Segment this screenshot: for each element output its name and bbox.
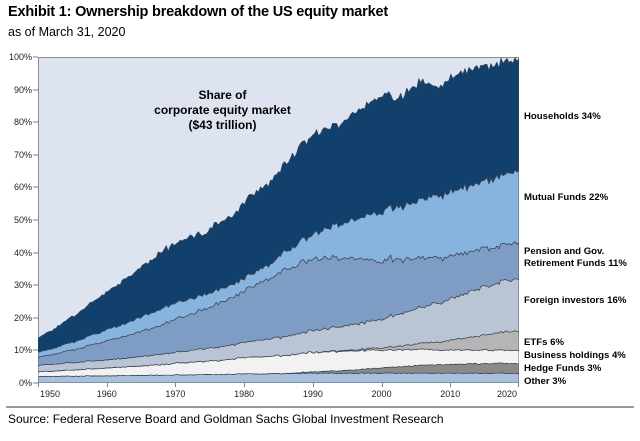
y-tick-label: 80%	[14, 117, 32, 127]
series-label-mutual-funds: Mutual Funds 22%	[524, 192, 608, 204]
x-tick-mark	[38, 383, 39, 387]
x-axis: 19501960197019801990200020102020	[38, 383, 519, 405]
x-tick-label: 1960	[97, 389, 117, 399]
series-label-foreign-investors: Foreign investors 16%	[524, 295, 626, 307]
y-tick-label: 10%	[14, 345, 32, 355]
annotation-line-2: corporate equity market	[115, 103, 330, 118]
x-tick-label: 2000	[372, 389, 392, 399]
x-tick-mark	[107, 383, 108, 387]
y-tick-label: 100%	[9, 52, 32, 62]
footer-divider	[6, 406, 634, 408]
x-tick-mark	[518, 383, 519, 387]
y-tick-label: 40%	[14, 248, 32, 258]
x-tick-label: 2010	[440, 389, 460, 399]
series-label-pension: Pension and Gov. Retirement Funds 11%	[524, 246, 627, 269]
x-tick-mark	[382, 383, 383, 387]
x-tick-mark	[450, 383, 451, 387]
y-tick-label: 20%	[14, 313, 32, 323]
y-tick-label: 90%	[14, 85, 32, 95]
series-label-pension-line-1: Pension and Gov.	[524, 246, 627, 258]
x-tick-mark	[175, 383, 176, 387]
series-label-hedge-funds: Hedge Funds 3%	[524, 363, 601, 375]
x-tick-mark	[313, 383, 314, 387]
y-axis: 100%90%80%70%60%50%40%30%20%10%0%	[0, 57, 38, 383]
y-tick-label: 70%	[14, 150, 32, 160]
series-label-households: Households 34%	[524, 111, 601, 123]
y-tick-label: 0%	[19, 378, 32, 388]
page-title: Exhibit 1: Ownership breakdown of the US…	[8, 4, 388, 20]
series-label-etfs: ETFs 6%	[524, 337, 564, 349]
chart-annotation: Share of corporate equity market ($43 tr…	[115, 88, 330, 133]
x-tick-mark	[244, 383, 245, 387]
y-tick-label: 60%	[14, 182, 32, 192]
series-label-pension-line-2: Retirement Funds 11%	[524, 258, 627, 270]
y-tick-label: 30%	[14, 280, 32, 290]
page-subtitle: as of March 31, 2020	[8, 25, 125, 39]
series-label-business-holdings: Business holdings 4%	[524, 350, 626, 362]
source-note: Source: Federal Reserve Board and Goldma…	[8, 412, 444, 426]
x-tick-label: 2020	[497, 389, 517, 399]
x-tick-label: 1990	[303, 389, 323, 399]
annotation-line-1: Share of	[115, 88, 330, 103]
exhibit-figure: Exhibit 1: Ownership breakdown of the US…	[0, 0, 640, 441]
series-label-other: Other 3%	[524, 376, 566, 388]
x-tick-label: 1970	[165, 389, 185, 399]
annotation-line-3: ($43 trillion)	[115, 118, 330, 133]
x-tick-label: 1950	[40, 389, 60, 399]
y-tick-label: 50%	[14, 215, 32, 225]
x-tick-label: 1980	[234, 389, 254, 399]
